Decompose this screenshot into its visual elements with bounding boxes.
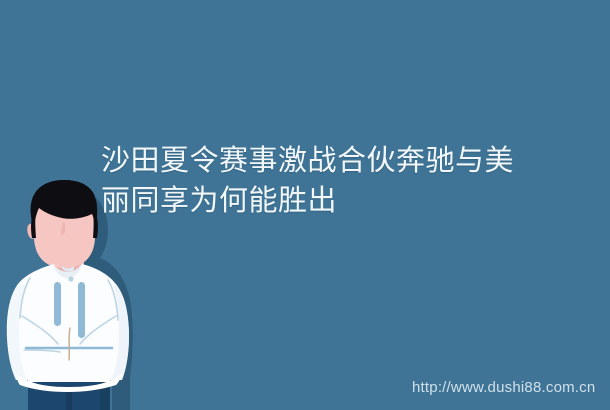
hoodie [7, 262, 129, 383]
watermark-url: http://www.dushi88.com.cn [412, 379, 595, 396]
page-title: 沙田夏令赛事激战合伙奔驰与美丽同享为何能胜出 [101, 141, 531, 221]
promo-banner: 沙田夏令赛事激战合伙奔驰与美丽同享为何能胜出 http://www.dushi8… [0, 0, 610, 410]
